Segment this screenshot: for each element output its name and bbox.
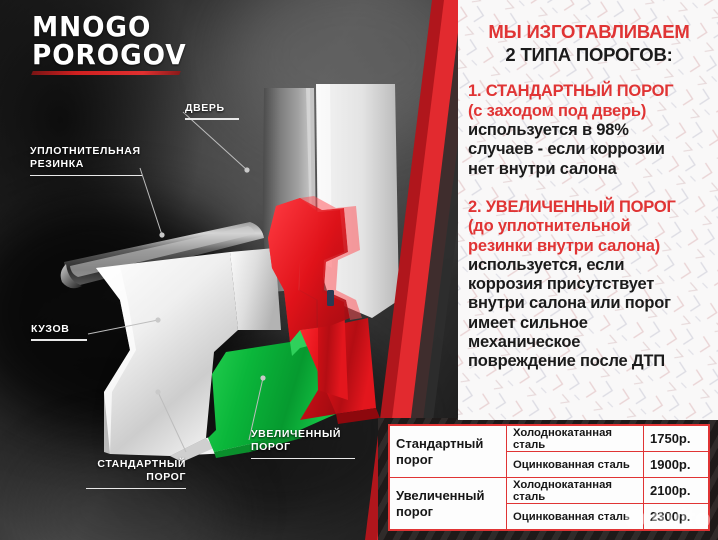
callout-underline (30, 175, 142, 177)
cell-type-standard: Стандартный порог (389, 425, 507, 478)
item2-body-line3: внутри салона или порог (468, 294, 710, 313)
callout-seal: УПЛОТНИТЕЛЬНАЯ РЕЗИНКА (30, 145, 142, 176)
callout-door-label: ДВЕРЬ (185, 102, 239, 115)
info-item-standard: 1. СТАНДАРТНЫЙ ПОРОГ (с заходом под двер… (468, 82, 710, 178)
callout-extended-sill: УВЕЛИЧЕННЫЙ ПОРОГ (251, 428, 355, 459)
item1-body-line1: используется в 98% (468, 121, 710, 140)
price-table: Стандартный порог Холоднокатанная сталь … (388, 424, 710, 531)
brand-logo-underline (31, 71, 181, 75)
callout-underline (31, 339, 87, 341)
brand-logo-line2: POROGOV (32, 42, 187, 68)
callout-extended-line2: ПОРОГ (251, 441, 355, 454)
callout-seal-line2: РЕЗИНКА (30, 158, 142, 171)
callout-underline (86, 488, 186, 490)
callout-standard-line2: ПОРОГ (86, 471, 186, 484)
item1-body-line3: нет внутри салона (468, 160, 710, 179)
brand-logo: MNOGO POROGOV (32, 14, 196, 75)
item1-body-line2: случаев - если коррозии (468, 140, 710, 159)
headline-line1: МЫ ИЗГОТАВЛИВАЕМ (468, 22, 710, 43)
callout-standard-sill: СТАНДАРТНЫЙ ПОРОГ (86, 458, 186, 489)
info-item-extended: 2. УВЕЛИЧЕННЫЙ ПОРОГ (до уплотнительной … (468, 198, 710, 372)
callout-body-label: КУЗОВ (31, 323, 87, 336)
cell-material: Холоднокатанная сталь (507, 478, 644, 504)
cell-price: 2100р. (644, 478, 710, 504)
cell-material: Холоднокатанная сталь (507, 425, 644, 452)
cell-material: Оцинкованная сталь (507, 452, 644, 478)
callout-door: ДВЕРЬ (185, 102, 239, 120)
brand-logo-line1: MNOGO (32, 14, 187, 40)
callout-underline (251, 458, 355, 460)
info-text-content: МЫ ИЗГОТАВЛИВАЕМ 2 ТИПА ПОРОГОВ: 1. СТАН… (458, 0, 718, 372)
cell-material: Оцинкованная сталь (507, 504, 644, 531)
sill-clip-detail (327, 290, 334, 306)
callout-standard-line1: СТАНДАРТНЫЙ (86, 458, 186, 471)
table-row: Увеличенный порог Холоднокатанная сталь … (389, 478, 709, 504)
cell-price: 1750р. (644, 425, 710, 452)
table-row: Стандартный порог Холоднокатанная сталь … (389, 425, 709, 452)
cell-type-extended: Увеличенный порог (389, 478, 507, 531)
item2-body-line4: имеет сильное (468, 314, 710, 333)
item2-body-line6: повреждение после ДТП (468, 352, 710, 371)
callout-seal-line1: УПЛОТНИТЕЛЬНАЯ (30, 145, 142, 158)
item1-title: 1. СТАНДАРТНЫЙ ПОРОГ (468, 82, 710, 101)
callout-extended-line1: УВЕЛИЧЕННЫЙ (251, 428, 355, 441)
item2-title: 2. УВЕЛИЧЕННЫЙ ПОРОГ (468, 198, 710, 217)
info-text-panel: МЫ ИЗГОТАВЛИВАЕМ 2 ТИПА ПОРОГОВ: 1. СТАН… (458, 0, 718, 420)
callout-underline (185, 118, 239, 120)
item2-subtitle-line2: резинки внутри салона) (468, 237, 710, 256)
item2-subtitle-line1: (до уплотнительной (468, 217, 710, 236)
headline-line2: 2 ТИПА ПОРОГОВ: (468, 45, 710, 66)
item2-body-line1: используется, если (468, 256, 710, 275)
item2-body-line5: механическое (468, 333, 710, 352)
advertisement-image: MNOGO POROGOV (0, 0, 718, 540)
item2-body-line2: коррозия присутствует (468, 275, 710, 294)
cell-price: 2300р. (644, 504, 710, 531)
callout-body: КУЗОВ (31, 323, 87, 341)
item1-subtitle: (с заходом под дверь) (468, 102, 710, 121)
cell-price: 1900р. (644, 452, 710, 478)
